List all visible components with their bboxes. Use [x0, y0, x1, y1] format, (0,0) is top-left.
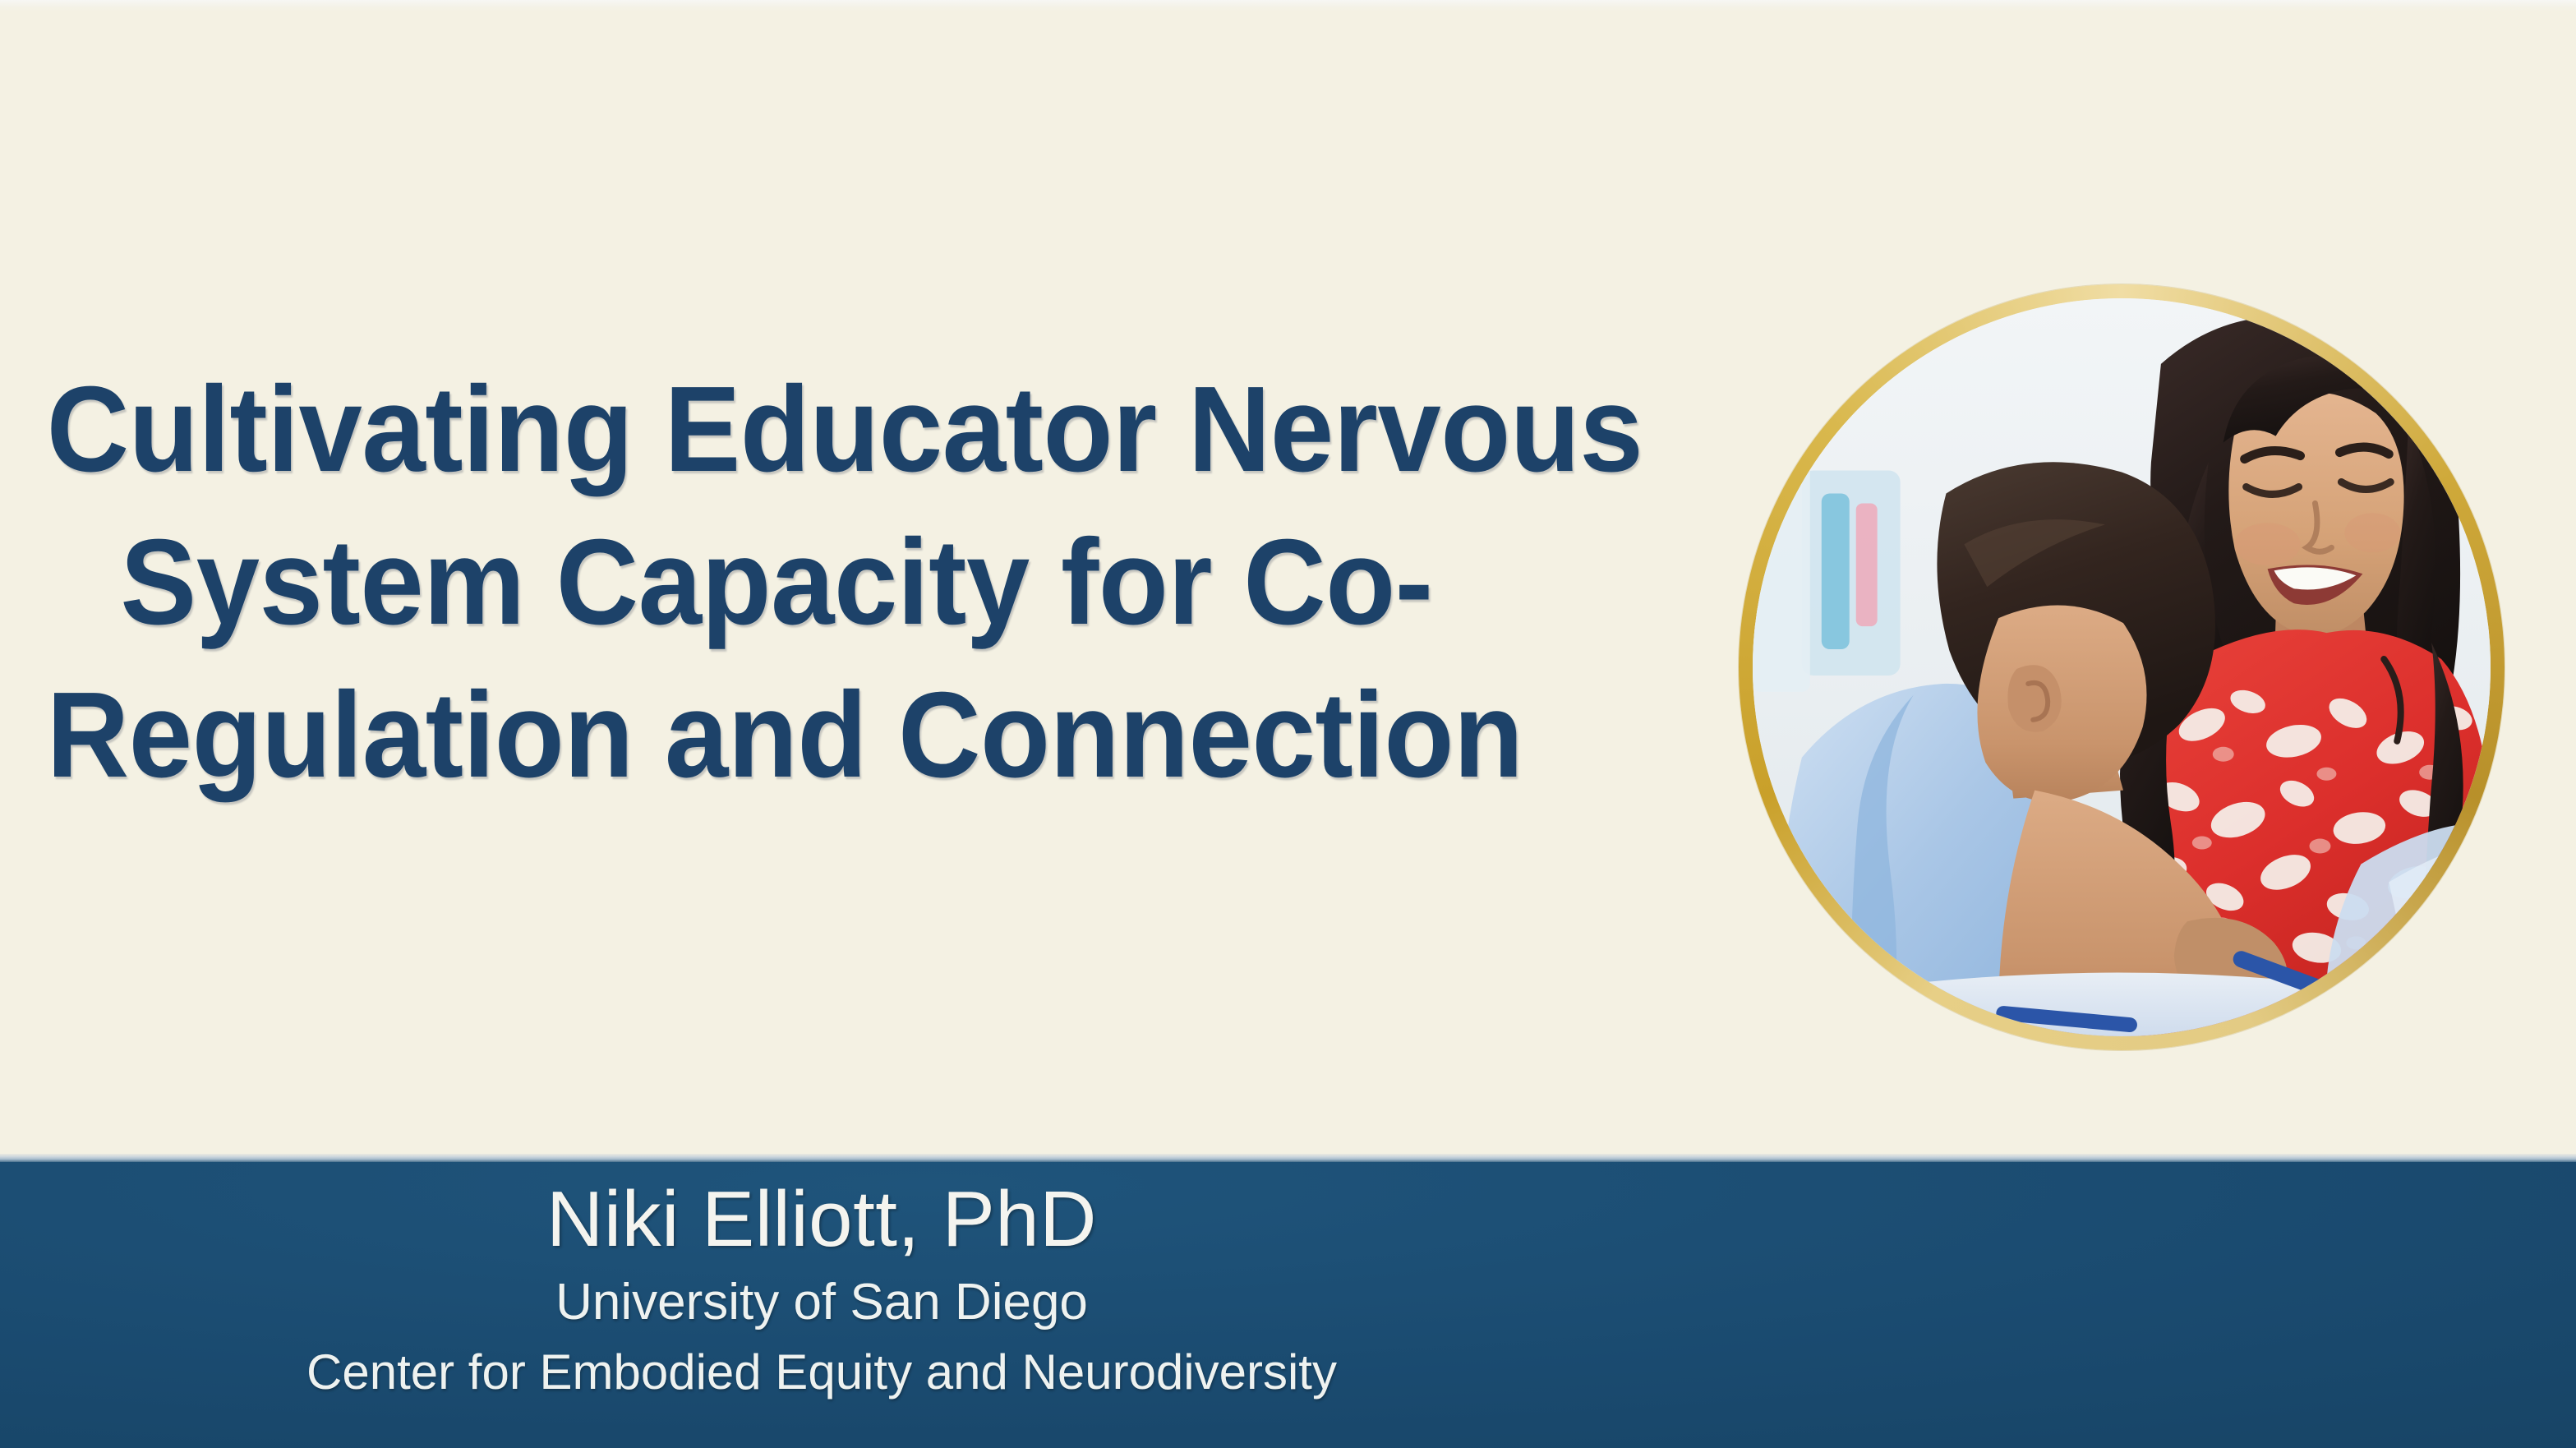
- presenter-footer-bar: Niki Elliott, PhD University of San Dieg…: [0, 1162, 2576, 1448]
- presenter-center-name: Center for Embodied Equity and Neurodive…: [0, 1344, 1643, 1400]
- presenter-name: Niki Elliott, PhD: [0, 1177, 1643, 1262]
- classroom-photo-frame: [1739, 284, 2505, 1050]
- footer-top-hairline: [0, 1154, 2576, 1162]
- top-edge-sliver: [0, 0, 2576, 12]
- title-slide: Cultivating Educator Nervous System Capa…: [0, 0, 2576, 1448]
- title-line-2: System Capacity for Co-: [47, 506, 1507, 659]
- title-line-3: Regulation and Connection: [47, 659, 1507, 812]
- photo-illustration: [1753, 298, 2491, 1036]
- title-line-1: Cultivating Educator Nervous: [47, 353, 1507, 506]
- gold-circle-border: [1739, 284, 2505, 1050]
- page-title: Cultivating Educator Nervous System Capa…: [0, 353, 1553, 812]
- presenter-info: Niki Elliott, PhD University of San Dieg…: [0, 1162, 1643, 1400]
- presenter-organization: University of San Diego: [0, 1274, 1643, 1331]
- classroom-educator-and-student-photo: [1753, 298, 2491, 1036]
